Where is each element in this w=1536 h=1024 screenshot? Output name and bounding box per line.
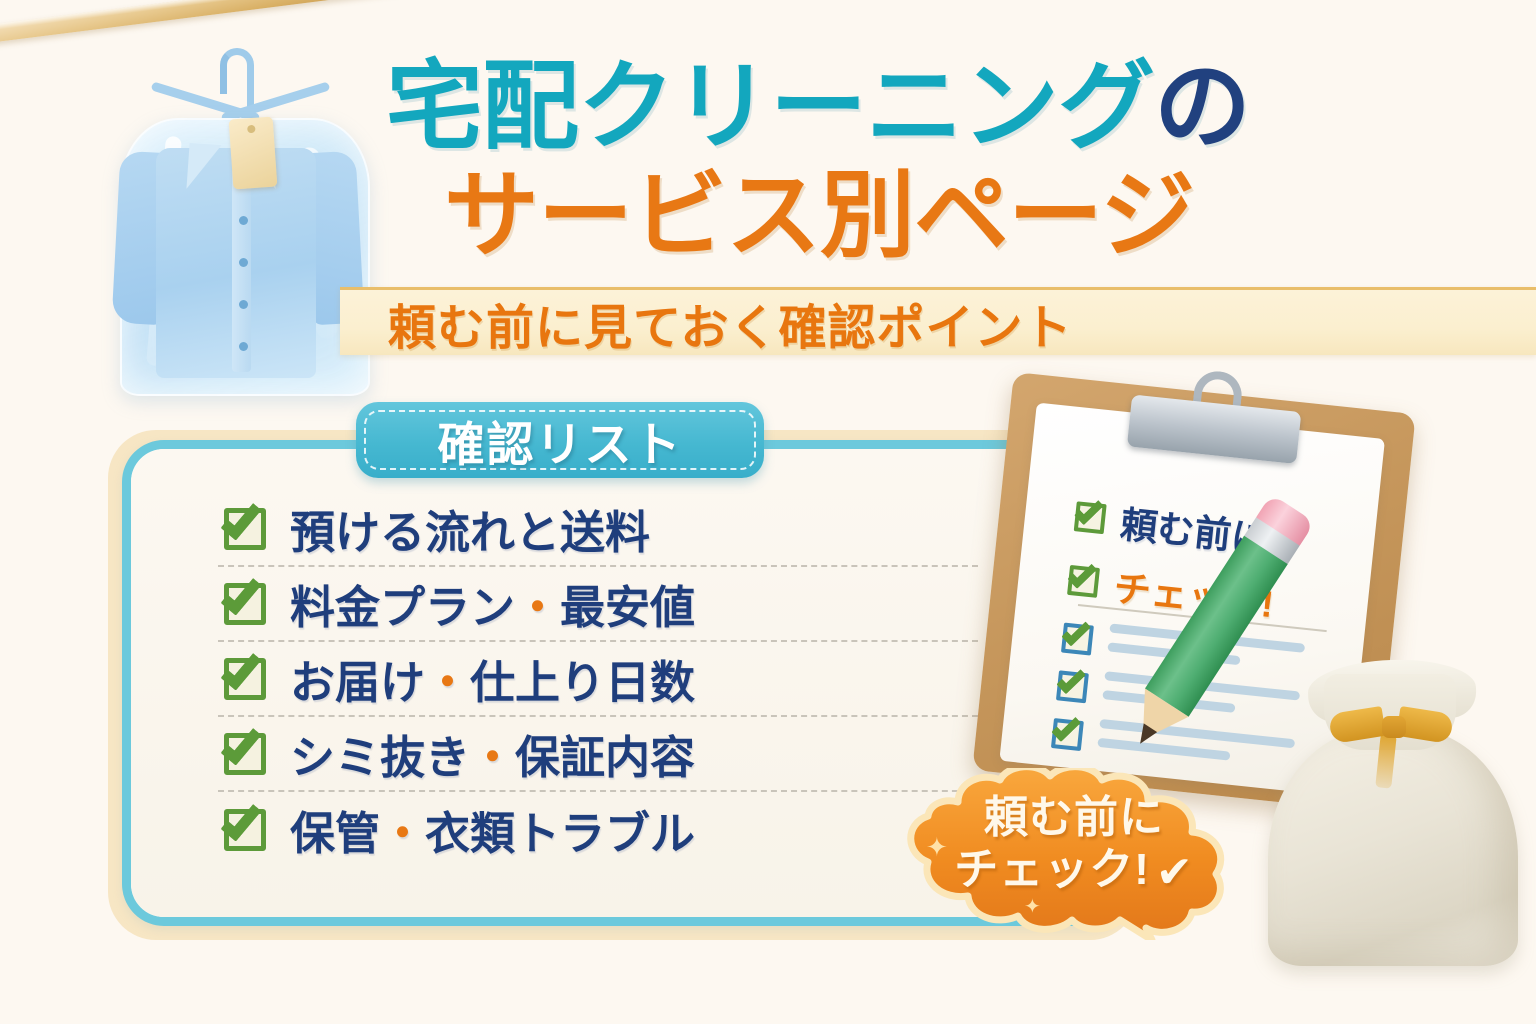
list-item[interactable]: お届け・仕上り日数 bbox=[218, 642, 978, 717]
list-item-label: 保管・衣類トラブル bbox=[290, 797, 695, 862]
title-line-1: 宅配クリーニングの bbox=[386, 58, 1106, 155]
ribbon-bow-icon bbox=[1334, 712, 1452, 742]
tag-hole bbox=[247, 125, 256, 134]
title-line-2: サービス別ページ bbox=[444, 169, 1106, 264]
list-item-label: 料金プラン・最安値 bbox=[290, 571, 695, 636]
cloud-bubble-text: 頼む前に チェック!✔ bbox=[896, 792, 1252, 896]
shirt-button bbox=[239, 342, 248, 351]
checkbox-checked-icon bbox=[224, 656, 272, 702]
checkbox-checked-icon bbox=[224, 807, 272, 853]
list-item[interactable]: 預ける流れと送料 bbox=[218, 492, 978, 567]
sparkle-icon: ✦ bbox=[926, 832, 948, 863]
checkbox-checked-icon bbox=[1067, 564, 1104, 599]
laundry-bag-illustration bbox=[1268, 668, 1518, 968]
cloud-line-1: 頼む前に bbox=[896, 792, 1252, 844]
checkbox-checked-icon bbox=[224, 506, 272, 552]
list-item-label: シミ抜き・保証内容 bbox=[290, 721, 695, 786]
checklist-badge: 確認リスト bbox=[356, 402, 764, 478]
list-item[interactable]: 保管・衣類トラブル bbox=[218, 792, 978, 867]
cloud-speech-bubble: ✦ ✦ 頼む前に チェック!✔ bbox=[896, 768, 1252, 940]
clothes-rod bbox=[0, 0, 408, 44]
shirt-button bbox=[239, 216, 248, 225]
ribbon-loop-left bbox=[1328, 706, 1386, 744]
list-item[interactable]: シミ抜き・保証内容 bbox=[218, 717, 978, 792]
checkbox-checked-icon bbox=[224, 581, 272, 627]
sparkle-icon: ✦ bbox=[1024, 894, 1041, 919]
list-item[interactable]: 料金プラン・最安値 bbox=[218, 567, 978, 642]
shirt-collar-left bbox=[186, 143, 221, 191]
subtitle-text: 頼む前に見ておく確認ポイント bbox=[388, 288, 1073, 358]
checklist-items: 預ける流れと送料 料金プラン・最安値 お届け・仕上り日数 シミ抜き・保証内容 bbox=[218, 492, 978, 867]
list-item-label: お届け・仕上り日数 bbox=[290, 646, 695, 711]
title-suffix-no: の bbox=[1154, 52, 1250, 161]
shirt-button bbox=[239, 300, 248, 309]
subtitle-ribbon: 頼む前に見ておく確認ポイント bbox=[340, 287, 1536, 355]
shirt-button bbox=[239, 258, 248, 267]
list-item-label: 預ける流れと送料 bbox=[290, 496, 650, 561]
checkbox-checked-icon bbox=[224, 731, 272, 777]
checklist-badge-label: 確認リスト bbox=[438, 406, 683, 475]
checkbox-checked-icon bbox=[1051, 717, 1088, 752]
ribbon-knot bbox=[1382, 716, 1406, 738]
checkbox-checked-icon bbox=[1056, 669, 1093, 704]
shirt-in-plastic-bag-illustration bbox=[92, 40, 382, 400]
check-glyph-icon: ✔ bbox=[1156, 847, 1194, 899]
cloud-line-2: チェック!✔ bbox=[896, 844, 1252, 896]
infographic-canvas: 宅配クリーニングの サービス別ページ 頼む前に見ておく確認ポイント 確認リスト … bbox=[0, 0, 1536, 1024]
title-main: 宅配クリーニング bbox=[386, 52, 1154, 161]
price-tag-icon bbox=[229, 117, 278, 190]
page-title: 宅配クリーニングの サービス別ページ bbox=[386, 58, 1106, 264]
checkbox-checked-icon bbox=[1061, 622, 1098, 657]
checkbox-checked-icon bbox=[1074, 500, 1111, 535]
